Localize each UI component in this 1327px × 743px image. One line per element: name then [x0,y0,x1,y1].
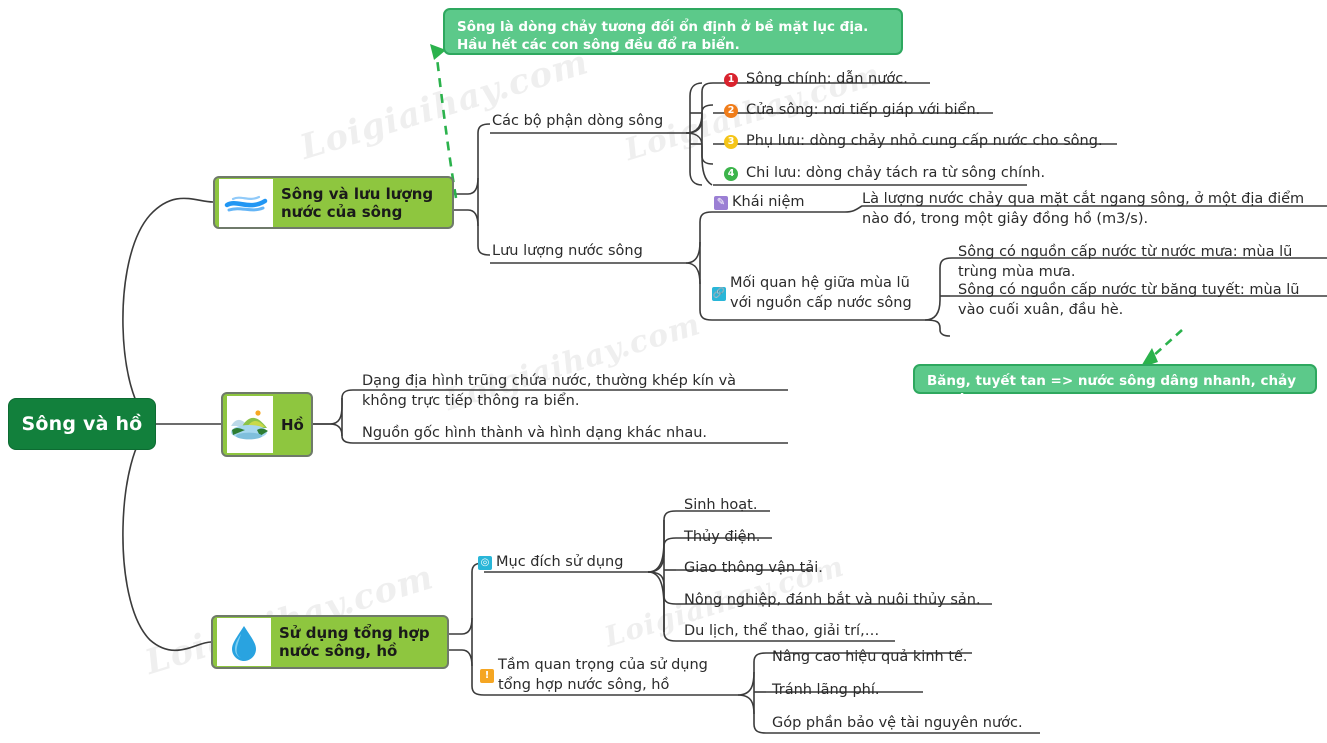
list-item[interactable]: Thủy điện. [684,528,760,548]
list-item[interactable]: Giao thông vận tải. [684,559,823,579]
moi-quan-he-detail-1: Sông có nguồn cấp nước từ nước mưa: mùa … [958,243,1318,282]
branch-node-song-luu-luong[interactable]: Sông và lưu lượng nước của sông [213,176,454,229]
subtopic-luu-luong[interactable]: Lưu lượng nước sông [492,242,643,262]
list-item-label: Cửa sông: nơi tiếp giáp với biển. [746,101,980,121]
subtopic-tam-quan-trong[interactable]: ! Tầm quan trọng của sử dụng tổng hợp nư… [480,656,708,695]
list-item[interactable]: 3 Phụ lưu: dòng chảy nhỏ cung cấp nước c… [724,132,1103,152]
pencil-icon: ✎ [714,196,728,210]
list-item[interactable]: 4 Chi lưu: dòng chảy tách ra từ sông chí… [724,164,1045,184]
branch-node-su-dung-tong-hop[interactable]: Sử dụng tổng hợp nước sông, hồ [211,615,449,669]
subtopic-khai-niem[interactable]: ✎ Khái niệm [714,193,805,213]
subtopic-muc-dich-label: Mục đích sử dụng [496,553,623,573]
link-icon: 🔗 [712,287,726,301]
list-item[interactable]: Nâng cao hiệu quả kinh tế. [772,648,968,668]
list-item[interactable]: Sinh hoạt. [684,496,757,516]
ho-detail-1: Dạng địa hình trũng chứa nước, thường kh… [362,372,782,411]
number-badge-3: 3 [724,135,738,149]
list-item[interactable]: 1 Sông chính: dẫn nước. [724,70,908,90]
list-item[interactable]: Du lịch, thể thao, giải trí,… [684,622,879,642]
subtopic-muc-dich[interactable]: ◎ Mục đích sử dụng [478,553,623,573]
number-badge-2: 2 [724,104,738,118]
warning-icon: ! [480,669,494,683]
root-node-label: Sông và hồ [22,413,143,435]
moi-quan-he-detail-2: Sông có nguồn cấp nước từ băng tuyết: mù… [958,281,1318,320]
list-item-label: Phụ lưu: dòng chảy nhỏ cung cấp nước cho… [746,132,1103,152]
subtopic-cac-bo-phan[interactable]: Các bộ phận dòng sông [492,112,663,132]
branch-label: Sử dụng tổng hợp nước sông, hồ [279,624,436,660]
list-item[interactable]: Nông nghiệp, đánh bắt và nuôi thủy sản. [684,591,981,611]
subtopic-moi-quan-he-label: Mối quan hệ giữa mùa lũ với nguồn cấp nư… [730,274,912,313]
callout-bang-tuyet-tan: Băng, tuyết tan => nước sông dâng nhanh,… [913,364,1317,394]
subtopic-moi-quan-he[interactable]: 🔗 Mối quan hệ giữa mùa lũ với nguồn cấp … [712,274,912,313]
ho-detail-2: Nguồn gốc hình thành và hình dạng khác n… [362,424,782,444]
river-thumbnail-icon [219,179,273,227]
water-drop-thumbnail-icon [217,618,271,666]
callout-text: Sông là dòng chảy tương đối ổn định ở bề… [457,19,868,53]
list-item[interactable]: Tránh lãng phí. [772,681,880,701]
callout-dinh-nghia-song: Sông là dòng chảy tương đối ổn định ở bề… [443,8,903,55]
mindmap-canvas: Loigiaihay.com Loigiaihay.com Loigiaihay… [0,0,1327,743]
subtopic-tam-quan-trong-label: Tầm quan trọng của sử dụng tổng hợp nước… [498,656,708,695]
lake-thumbnail-icon [227,396,273,453]
callout-text: Băng, tuyết tan => nước sông dâng nhanh,… [927,373,1296,407]
subtopic-khai-niem-label: Khái niệm [732,193,805,213]
list-item[interactable]: Góp phần bảo vệ tài nguyên nước. [772,714,1023,734]
list-item-label: Chi lưu: dòng chảy tách ra từ sông chính… [746,164,1045,184]
target-icon: ◎ [478,556,492,570]
root-node[interactable]: Sông và hồ [8,398,156,450]
dashed-arrow-to-bangtuyet [1152,330,1182,357]
branch-label: Hồ [281,416,310,434]
list-item[interactable]: 2 Cửa sông: nơi tiếp giáp với biển. [724,101,980,121]
branch-node-ho[interactable]: Hồ [221,392,313,457]
number-badge-1: 1 [724,73,738,87]
number-badge-4: 4 [724,167,738,181]
list-item-label: Sông chính: dẫn nước. [746,70,908,90]
khai-niem-detail: Là lượng nước chảy qua mặt cắt ngang sôn… [862,190,1320,229]
watermark: Loigiaihay.com [296,42,594,168]
branch-label: Sông và lưu lượng nước của sông [281,185,439,221]
